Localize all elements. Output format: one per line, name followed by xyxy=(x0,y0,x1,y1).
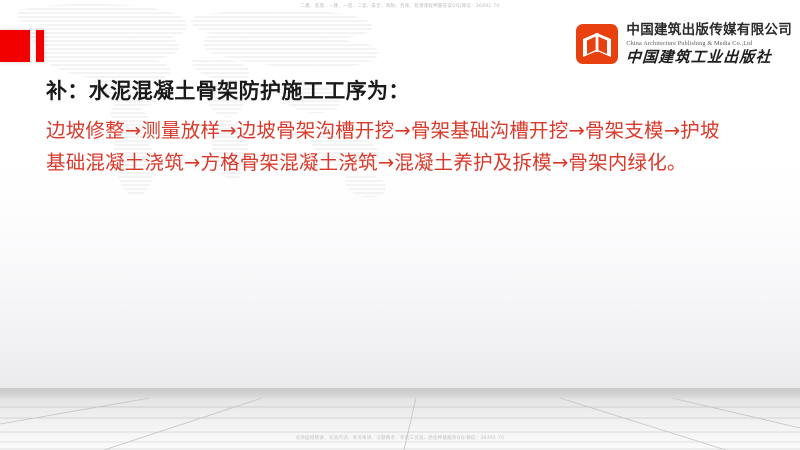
process-flow-text: 边坡修整→测量放样→边坡骨架沟槽开挖→骨架基础沟槽开挖→骨架支模→护坡 基础混凝… xyxy=(46,115,762,178)
logo-imprint-cn: 中国建筑工业出版社 xyxy=(626,50,792,65)
watermark-bottom: 名师面授精讲、先进内训、考点串讲、习题精考、考前三页纸、绝密押题服务QQ/微信：… xyxy=(0,435,800,441)
slide-content: 补：水泥混凝土骨架防护施工工序为： 边坡修整→测量放样→边坡骨架沟槽开挖→骨架基… xyxy=(46,76,762,179)
red-block-wide xyxy=(0,30,30,62)
open-book-logo-icon xyxy=(576,24,618,64)
slide-canvas: 二建、监理、一建、一造、二造、安全、消防、咨询、检测课程押题答案QQ/微信：36… xyxy=(0,0,800,450)
red-accent-marker xyxy=(0,30,44,62)
watermark-top: 二建、监理、一建、一造、二造、安全、消防、咨询、检测课程押题答案QQ/微信：36… xyxy=(0,3,800,9)
logo-company-cn: 中国建筑出版传媒有限公司 xyxy=(626,24,792,38)
floor-grid-lines xyxy=(0,398,800,450)
process-flow-line-1: 边坡修整→测量放样→边坡骨架沟槽开挖→骨架基础沟槽开挖→骨架支模→护坡 xyxy=(46,115,762,147)
publisher-logo: 中国建筑出版传媒有限公司 China Architecture Publishi… xyxy=(576,24,792,65)
process-flow-line-2: 基础混凝土浇筑→方格骨架混凝土浇筑→混凝土养护及拆模→骨架内绿化。 xyxy=(46,147,762,179)
red-block-narrow xyxy=(36,30,44,62)
logo-company-en: China Architecture Publishing & Media Co… xyxy=(626,41,792,47)
floor-plane xyxy=(0,398,800,450)
logo-text-block: 中国建筑出版传媒有限公司 China Architecture Publishi… xyxy=(626,24,792,65)
slide-headline: 补：水泥混凝土骨架防护施工工序为： xyxy=(46,76,762,106)
